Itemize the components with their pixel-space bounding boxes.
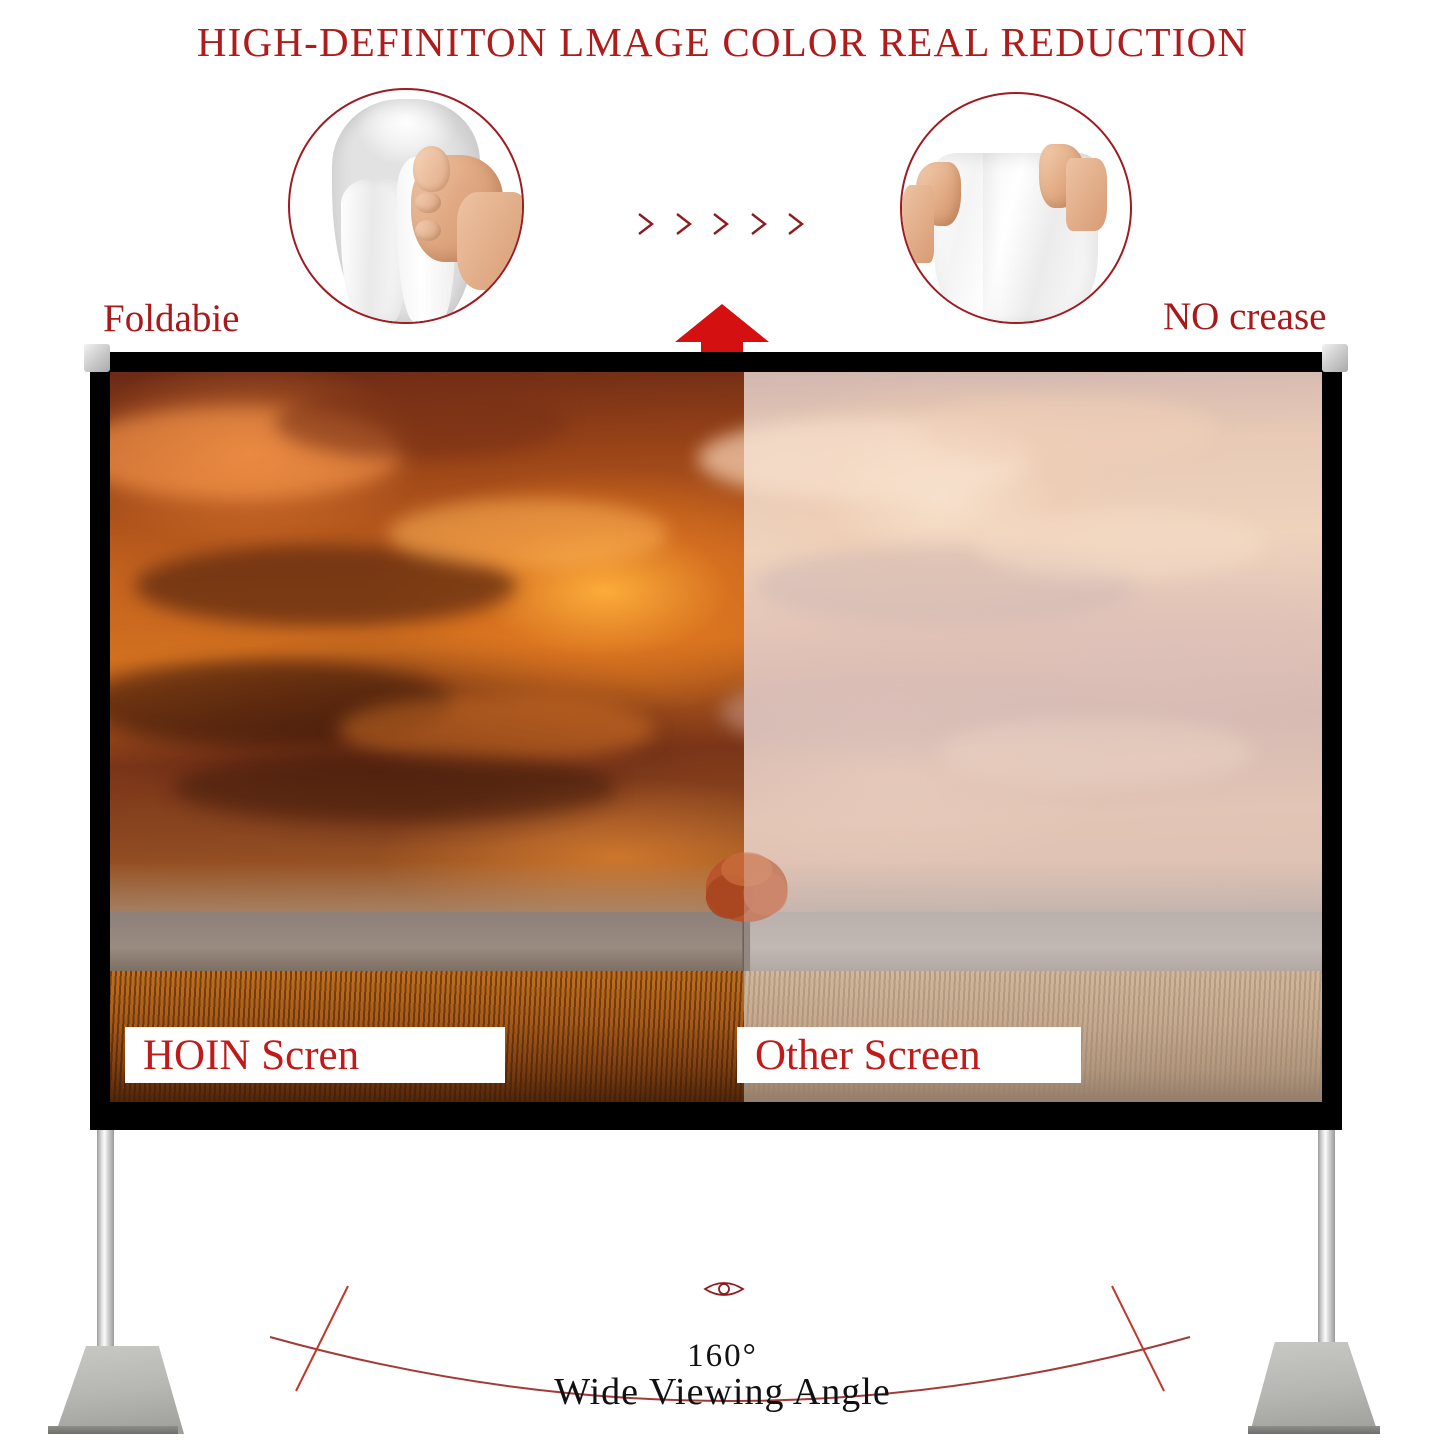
thumb-icon xyxy=(413,146,450,192)
chevron-right-icon xyxy=(786,211,806,237)
lone-tree-icon xyxy=(677,825,816,978)
up-arrow-icon xyxy=(673,302,771,358)
viewing-angle-label: Wide Viewing Angle xyxy=(0,1370,1445,1414)
chevron-right-icon xyxy=(636,211,656,237)
corner-bracket-icon xyxy=(1322,344,1348,372)
horizon-band-left xyxy=(110,912,744,970)
projected-image xyxy=(110,372,1322,1102)
inset-foldable-photo xyxy=(288,88,524,324)
transition-chevrons xyxy=(636,198,806,250)
inset-right-caption: NO crease xyxy=(1163,294,1326,339)
label-hoin-screen: HOIN Scren xyxy=(125,1027,505,1083)
knuckle-icon xyxy=(415,192,441,213)
chevron-right-icon xyxy=(674,211,694,237)
eye-icon xyxy=(703,1276,745,1302)
inset-no-crease-photo xyxy=(900,92,1132,324)
left-forearm-icon xyxy=(902,185,934,263)
stand-foot-edge-left xyxy=(48,1426,178,1434)
knuckle-icon xyxy=(415,220,441,241)
label-other-screen: Other Screen xyxy=(737,1027,1081,1083)
stand-foot-edge-right xyxy=(1248,1426,1380,1434)
right-forearm-icon xyxy=(1066,158,1107,231)
chevron-right-icon xyxy=(749,211,769,237)
projector-screen xyxy=(90,352,1342,1130)
horizon-band-right xyxy=(744,912,1322,970)
chevron-right-icon xyxy=(711,211,731,237)
inset-left-caption: Foldabie xyxy=(103,296,239,341)
product-feature-graphic: HIGH-DEFINITON LMAGE COLOR REAL REDUCTIO… xyxy=(0,0,1445,1445)
corner-bracket-icon xyxy=(84,344,110,372)
page-title: HIGH-DEFINITON LMAGE COLOR REAL REDUCTIO… xyxy=(0,18,1445,66)
wrist-icon xyxy=(457,192,524,289)
